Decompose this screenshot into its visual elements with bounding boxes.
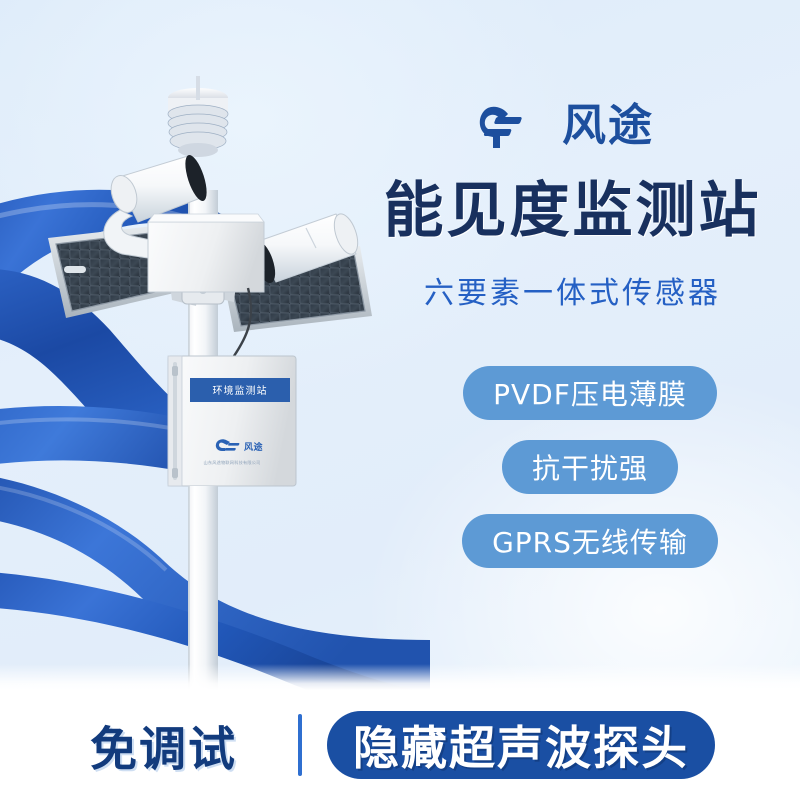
- sensor-junction-box: [148, 214, 264, 292]
- visibility-sensor-transmitter: [104, 153, 211, 260]
- mounting-mast: [188, 190, 218, 690]
- blue-satin-ribbon: [0, 170, 430, 690]
- solar-panel-left: [48, 222, 198, 318]
- solar-panel-right: [216, 246, 372, 332]
- enclosure-title-text: 环境监测站: [213, 384, 268, 397]
- feature-pill-gprs: GPRS无线传输: [462, 514, 718, 568]
- banner-highlight-pill: 隐藏超声波探头: [327, 711, 715, 779]
- page-title: 能见度监测站: [355, 178, 790, 244]
- feature-pill-pvdf: PVDF压电薄膜: [463, 366, 717, 420]
- enclosure-company-text: 山东风途物联网科技有限公司: [203, 459, 260, 466]
- controller-enclosure: 环境监测站 风途 山东风途物联网科技有限公司: [168, 356, 296, 486]
- gf-logo-icon: [478, 104, 552, 148]
- feature-pill-list: PVDF压电薄膜 抗干扰强 GPRS无线传输: [430, 366, 750, 568]
- weather-station-device: 环境监测站 风途 山东风途物联网科技有限公司: [20, 70, 420, 690]
- page-subtitle: 六要素一体式传感器: [355, 268, 790, 312]
- product-poster: 环境监测站 风途 山东风途物联网科技有限公司 风途 能见度监测站: [0, 0, 800, 800]
- poster-background: 环境监测站 风途 山东风途物联网科技有限公司: [0, 0, 800, 690]
- feature-pill-anti-interference: 抗干扰强: [502, 440, 678, 494]
- bottom-banner: 免调试 隐藏超声波探头: [0, 690, 800, 800]
- banner-divider: [298, 714, 302, 776]
- enclosure-brand-text: 风途: [244, 441, 264, 453]
- banner-left-text: 免调试: [90, 711, 237, 780]
- brand-name: 风途: [562, 104, 654, 148]
- radiation-shield: [168, 76, 228, 157]
- brand-lockup: 风途: [478, 104, 654, 148]
- visibility-sensor-receiver: [198, 211, 362, 287]
